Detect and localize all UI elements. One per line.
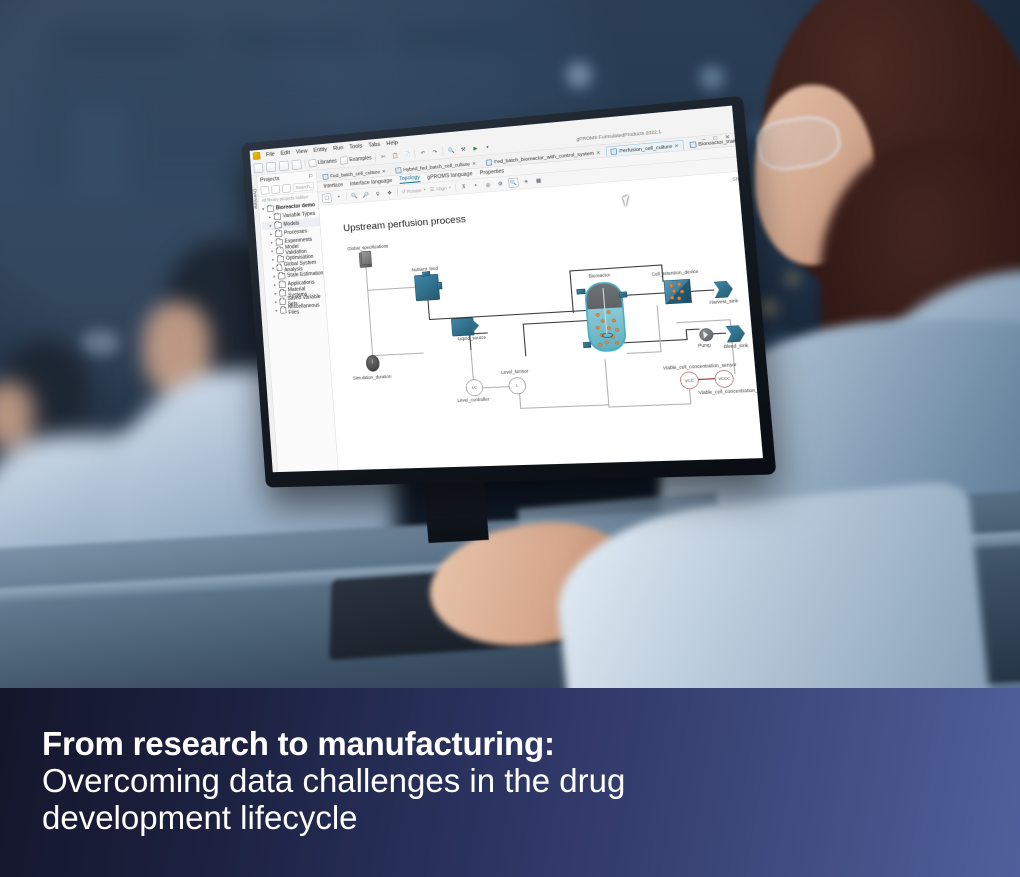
align-icon: ☰ (430, 186, 435, 192)
undo-icon[interactable]: ↶ (419, 149, 428, 158)
chevron-down-icon[interactable]: ▾ (261, 207, 265, 212)
bioreactor-port-right (619, 291, 627, 297)
minimize-button[interactable]: – (702, 136, 706, 142)
folder-icon (279, 281, 286, 287)
chevron-right-icon[interactable]: ▸ (272, 266, 275, 271)
libraries-label: Libraries (317, 158, 337, 165)
topology-canvas[interactable]: Show ▾ Upstream perfusion process (319, 170, 763, 470)
nutrient-feed-port-right (437, 282, 442, 290)
save-icon[interactable] (279, 160, 289, 170)
folder-icon (279, 298, 285, 304)
menu-view[interactable]: View (296, 148, 308, 155)
align-label: Align (436, 185, 447, 192)
pin-icon[interactable]: ⚐ (308, 172, 313, 179)
node-pump[interactable] (699, 328, 714, 342)
examples-label: Examples (349, 155, 372, 163)
tree-item-label: Models (283, 221, 299, 228)
library-icon (308, 159, 316, 167)
close-icon[interactable]: ✕ (674, 143, 679, 149)
run-dropdown-icon[interactable]: ▼ (483, 143, 492, 152)
tree-item-label: Miscellaneous Files (288, 302, 326, 315)
run-icon[interactable]: ▶ (471, 144, 480, 153)
subtab-topology[interactable]: Topology (399, 174, 420, 183)
app-logo-icon (253, 152, 261, 160)
chevron-right-icon[interactable]: ▸ (271, 257, 275, 262)
show-label: Show (732, 176, 746, 182)
label-bleed-sink: Bleed_sink (723, 343, 748, 350)
folder-icon (274, 213, 281, 220)
chevron-right-icon[interactable]: ▸ (270, 249, 274, 254)
chevron-down-icon[interactable]: ▼ (448, 186, 451, 189)
search-input[interactable]: Search... (293, 182, 314, 192)
select-tool-icon[interactable]: ☐ (322, 193, 332, 203)
label-cell-retention-device: Cell_retention_device (651, 269, 698, 277)
model-icon (323, 174, 329, 180)
examples-button[interactable]: Examples (340, 154, 372, 164)
chevron-right-icon[interactable]: ▸ (273, 291, 277, 296)
save-all-icon[interactable] (292, 159, 302, 169)
node-bleed-sink[interactable] (725, 325, 745, 342)
chevron-right-icon[interactable]: ▸ (269, 232, 273, 237)
collapse-all-icon[interactable] (282, 184, 291, 193)
copy-icon[interactable]: 📋 (391, 151, 400, 160)
link-icon[interactable] (271, 185, 280, 194)
folder-icon (277, 256, 284, 262)
menu-entity[interactable]: Entity (313, 146, 327, 153)
monitor-screen: File Edit View Entity Run Tools Tabs Hel… (250, 106, 763, 473)
folder-icon (279, 290, 286, 296)
close-icon[interactable]: ✕ (739, 137, 744, 143)
canvas-divider-3 (455, 183, 456, 191)
rotate-icon: ↺ (401, 189, 406, 195)
node-level-sensor[interactable]: L (508, 377, 527, 395)
folder-icon (275, 230, 282, 237)
chevron-right-icon[interactable]: ▸ (272, 274, 276, 279)
chevron-down-icon[interactable]: ▼ (423, 188, 426, 191)
folder-icon (280, 307, 287, 313)
diagram-title: Upstream perfusion process (343, 214, 466, 235)
canvas-divider (346, 192, 347, 200)
label-vcc-controller: Viable_cell_concentration_controller (698, 386, 763, 395)
node-level-controller[interactable]: LC (465, 379, 483, 396)
node-nutrient-feed[interactable] (414, 274, 440, 301)
lab-photo: File Edit View Entity Run Tools Tabs Hel… (0, 0, 1020, 688)
chevron-right-icon[interactable]: ▸ (269, 223, 273, 228)
menu-run[interactable]: Run (333, 145, 344, 152)
rotate-button[interactable]: ↺ Rotate ▼ (401, 187, 426, 195)
toolbar-divider-4 (442, 147, 443, 155)
model-icon (689, 141, 696, 147)
examples-icon (340, 156, 348, 164)
label-level-sensor: Level_sensor (501, 368, 529, 375)
monitor-bezel: File Edit View Entity Run Tools Tabs Hel… (241, 96, 776, 488)
paste-icon[interactable]: 📄 (403, 150, 412, 159)
node-global-specifications[interactable] (359, 252, 372, 268)
chevron-right-icon[interactable]: ▸ (275, 308, 279, 313)
bioreactor-port-top-left (576, 289, 585, 295)
libraries-button[interactable]: Libraries (308, 157, 337, 167)
rotate-label: Rotate (407, 187, 422, 194)
new-project-icon[interactable] (261, 186, 270, 195)
folder-icon (276, 264, 282, 270)
build-icon[interactable]: ⚒ (459, 145, 468, 154)
chevron-down-icon[interactable]: ▼ (471, 181, 480, 190)
vcc-controller-tag: VCCC (718, 377, 730, 381)
menu-edit[interactable]: Edit (280, 150, 290, 157)
fit-to-window-icon[interactable]: ✥ (385, 189, 394, 198)
connection-style-icon[interactable]: ⊼ (459, 182, 468, 191)
label-pump: Pump (698, 342, 711, 348)
level-controller-tag: LC (472, 386, 477, 390)
canvas-divider-2 (397, 188, 398, 196)
node-simulation-duration[interactable] (366, 355, 381, 372)
settings-icon[interactable]: ⚙ (496, 179, 505, 188)
node-vcc-sensor[interactable]: VCC (679, 371, 699, 389)
open-icon[interactable] (266, 162, 276, 172)
label-level-controller: Level_controller (457, 396, 489, 403)
menu-file[interactable]: File (266, 151, 275, 158)
chevron-right-icon[interactable]: ▸ (270, 240, 274, 245)
node-cell-retention-device[interactable] (664, 279, 692, 304)
folder-open-icon (267, 205, 274, 212)
close-icon[interactable]: ✕ (596, 150, 601, 156)
chevron-right-icon[interactable]: ▸ (268, 215, 272, 220)
cut-icon[interactable]: ✄ (379, 152, 388, 161)
folder-icon (276, 247, 283, 253)
headline-banner: From research to manufacturing: Overcomi… (0, 688, 1020, 877)
monitor: File Edit View Entity Run Tools Tabs Hel… (240, 103, 770, 542)
liquid-source-arrow-icon (471, 318, 480, 333)
globe-icon[interactable]: ☀ (521, 177, 530, 186)
search-icon[interactable]: 🔍 (447, 146, 456, 155)
close-button[interactable]: ✕ (725, 134, 730, 140)
subtab-interface[interactable]: Interface (323, 182, 343, 189)
folder-icon (274, 222, 281, 229)
menu-tools[interactable]: Tools (349, 143, 362, 150)
projects-title: Projects (260, 176, 280, 184)
headline-line-2: Overcoming data challenges in the drug (42, 762, 980, 800)
label-harvest-sink: Harvest_sink (709, 298, 738, 305)
chevron-down-icon: ▾ (747, 175, 750, 181)
folder-icon (276, 239, 283, 246)
chevron-right-icon[interactable]: ▸ (273, 283, 277, 288)
zoom-out-icon[interactable]: 🔎 (362, 191, 371, 200)
editor-area: Fed_batch_cell_culture ✕ Hybrid_fed_batc… (316, 132, 763, 471)
level-sensor-tag: L (516, 384, 518, 388)
maximize-button[interactable]: □ (713, 135, 717, 141)
new-icon[interactable] (253, 163, 263, 173)
show-dropdown[interactable]: Show ▾ (732, 175, 750, 182)
zoom-in-icon[interactable]: 🔍 (350, 191, 359, 200)
app-body: Overview Projects ⚐ (251, 133, 763, 472)
folder-icon (278, 273, 285, 279)
close-icon[interactable]: ✕ (382, 168, 386, 174)
close-icon[interactable]: ✕ (472, 161, 476, 167)
toolbar-divider (304, 160, 305, 168)
chevron-right-icon[interactable]: ▸ (274, 300, 278, 305)
page-root: File Edit View Entity Run Tools Tabs Hel… (0, 0, 1020, 877)
connection-point-icon[interactable]: ◎ (483, 180, 492, 189)
subtab-properties[interactable]: Properties (480, 168, 505, 176)
node-harvest-sink[interactable] (713, 281, 733, 298)
align-button[interactable]: ☰ Align ▼ (430, 185, 452, 192)
toolbar-divider-2 (375, 153, 376, 161)
gproms-application: File Edit View Entity Run Tools Tabs Hel… (250, 106, 763, 473)
menu-tabs[interactable]: Tabs (368, 141, 380, 148)
toolbar-divider-3 (414, 150, 415, 158)
headline-line-3: development lifecycle (42, 799, 980, 837)
label-simulation-duration: Simulation_duration (353, 374, 392, 381)
project-tree: ▾ Bioreactor demo ▸ Variable Types (259, 199, 326, 315)
headline-bold: From research to manufacturing: (42, 726, 980, 762)
vcc-sensor-tag: VCC (685, 378, 695, 383)
zoom-reset-icon[interactable]: ⚲ (373, 190, 382, 199)
model-icon (395, 167, 401, 173)
inspect-icon[interactable]: 🔍 (508, 178, 518, 188)
model-icon (486, 159, 492, 165)
menu-help[interactable]: Help (386, 139, 398, 146)
bioreactor-port-bottom (583, 342, 591, 348)
node-vcc-controller[interactable]: VCCC (714, 370, 734, 388)
model-icon (611, 148, 618, 154)
nutrient-feed-port-top (422, 271, 430, 276)
redo-icon[interactable]: ↷ (430, 148, 439, 157)
notes-icon[interactable]: ▦ (534, 176, 543, 185)
tree-item-label: Processes (284, 229, 307, 236)
select-dropdown-icon[interactable]: ▼ (335, 193, 344, 202)
label-bioreactor: Bioreactor (588, 272, 610, 279)
